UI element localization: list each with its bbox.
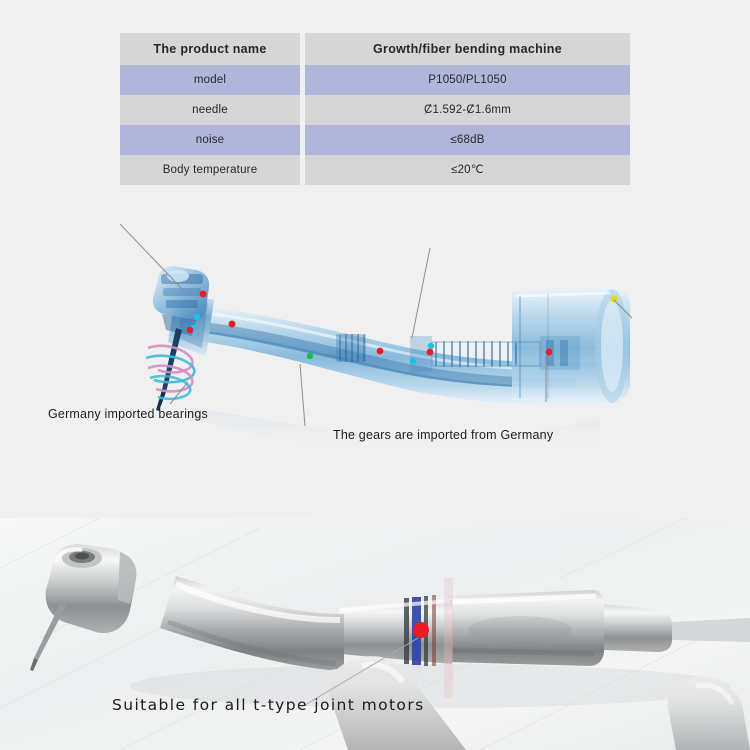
callout-germany-imported-bearings: Germany imported bearings [48,406,208,422]
marker-red-dot [377,348,384,355]
leader-bearings [120,224,185,292]
header-product-name: The product name [120,33,300,65]
row-label-noise: noise [120,125,300,155]
marker-cyan-dot [428,343,434,349]
marker-red-dot [427,349,434,356]
row-value-noise: ≤68dB [305,125,630,155]
row-label-needle: needle [120,95,300,125]
marker-green-dot [307,353,313,359]
highlight-band [444,578,453,698]
marker-red-dot [200,291,207,298]
table-header-row: The product name Growth/fiber bending ma… [120,33,630,65]
marker-red-dot [546,349,553,356]
handpiece-xray-illustration [0,196,750,518]
ring-bronze [432,595,436,666]
leader-gears [412,248,430,338]
row-value-body-temperature: ≤20℃ [305,155,630,185]
marker-cyan-dot [410,358,416,364]
photo-caption: Suitable for all t-type joint motors [112,696,425,714]
specification-table: The product name Growth/fiber bending ma… [120,33,630,185]
row-label-model: model [120,65,300,95]
product-photo-section: 1:5 [0,518,750,750]
leader-military-guide [300,364,305,426]
row-label-body-temperature: Body temperature [120,155,300,185]
marker-yellow-dot [611,296,618,303]
table-row: noise ≤68dB [120,125,630,155]
mid-gear-cluster [336,334,366,362]
xray-diagram-section: Germany imported bearings The gears are … [0,196,750,518]
marker-cyan-dot [194,314,200,320]
marker-red-dot [187,327,193,333]
product-infographic-page: The product name Growth/fiber bending ma… [0,0,750,750]
ring-black [404,598,409,664]
table-row: Body temperature ≤20℃ [120,155,630,185]
row-value-model: P1050/PL1050 [305,65,630,95]
leader-max-speed [170,382,188,404]
marker-red-dot [413,622,429,638]
marker-red-dot [229,321,236,328]
table-row: model P1050/PL1050 [120,65,630,95]
handpiece-photograph [0,518,750,750]
callout-gears-imported-germany: The gears are imported from Germany [333,427,553,443]
row-value-needle: Ȼ1.592-Ȼ1.6mm [305,95,630,125]
header-product-value: Growth/fiber bending machine [305,33,630,65]
table-row: needle Ȼ1.592-Ȼ1.6mm [120,95,630,125]
